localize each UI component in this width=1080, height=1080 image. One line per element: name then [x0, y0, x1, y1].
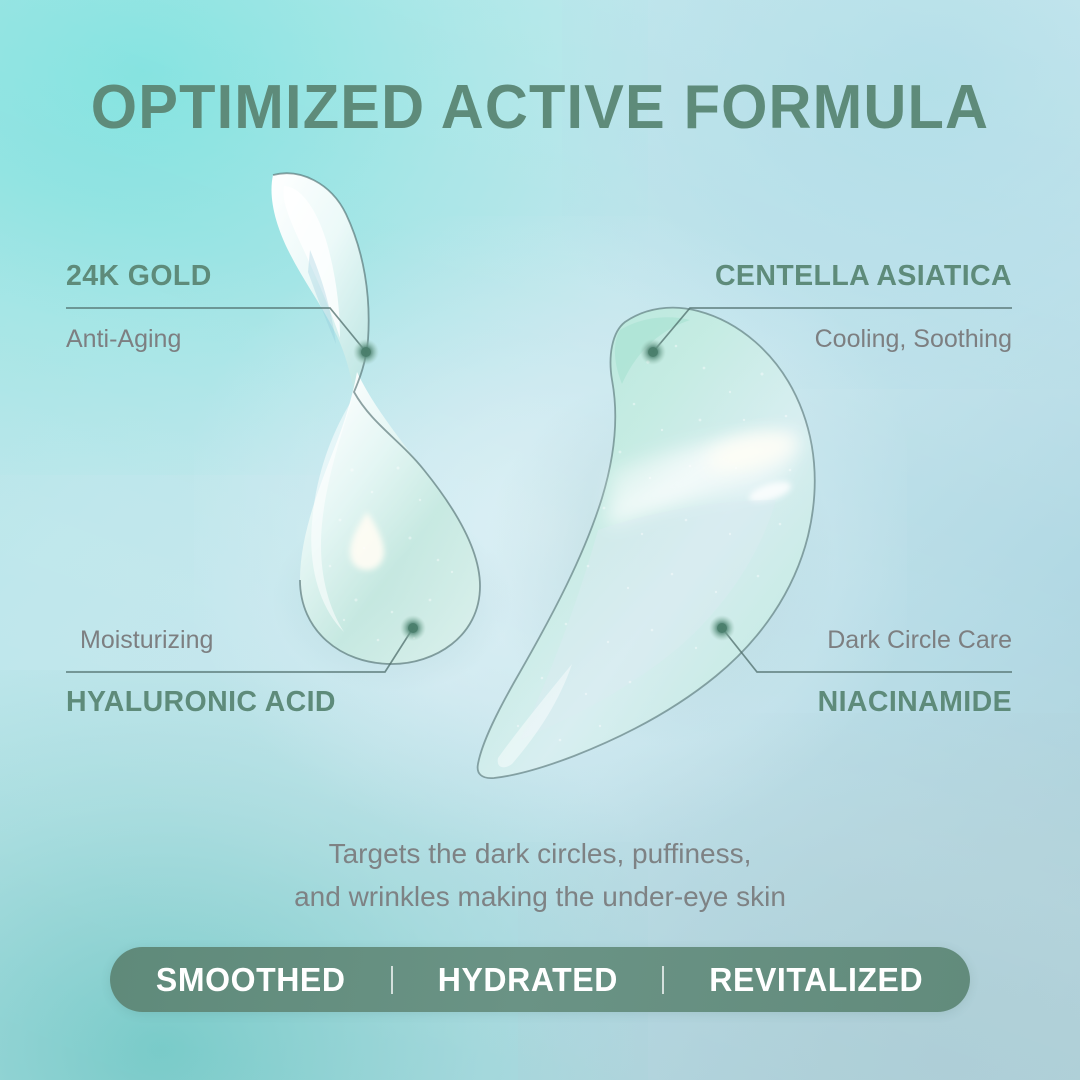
- callout-connectors: [0, 0, 1080, 1080]
- callout-bottom-left: Moisturizing HYALURONIC ACID: [80, 628, 336, 717]
- benefit-divider-2: [662, 966, 664, 994]
- benefits-banner: SMOOTHED HYDRATED REVITALIZED: [110, 947, 970, 1012]
- marker-core-top-right: [648, 347, 658, 357]
- ingredient-name-24k-gold: 24K GOLD: [66, 262, 212, 291]
- callout-bottom-right: Dark Circle Care NIACINAMIDE: [818, 628, 1012, 717]
- ingredient-name-centella-asiatica: CENTELLA ASIATICA: [715, 262, 1012, 291]
- promo-graphic: OPTIMIZED ACTIVE FORMULA: [0, 0, 1080, 1080]
- benefit-hydrated: HYDRATED: [397, 961, 659, 999]
- description-line-2: and wrinkles making the under-eye skin: [0, 875, 1080, 918]
- callout-top-right: CENTELLA ASIATICA Cooling, Soothing: [715, 262, 1012, 352]
- description-text: Targets the dark circles, puffiness, and…: [0, 832, 1080, 918]
- callout-markers: [353, 339, 735, 641]
- ingredient-benefit-niacinamide: Dark Circle Care: [818, 628, 1012, 653]
- ingredient-name-niacinamide: NIACINAMIDE: [818, 688, 1012, 717]
- marker-core-bottom-right: [717, 623, 727, 633]
- callout-top-left: 24K GOLD Anti-Aging: [66, 262, 212, 352]
- benefit-revitalized: REVITALIZED: [669, 961, 964, 999]
- ingredient-benefit-24k-gold: Anti-Aging: [66, 327, 212, 352]
- benefit-divider-1: [391, 966, 393, 994]
- ingredient-name-hyaluronic-acid: HYALURONIC ACID: [66, 688, 336, 717]
- ingredient-benefit-hyaluronic-acid: Moisturizing: [80, 628, 336, 653]
- description-line-1: Targets the dark circles, puffiness,: [0, 832, 1080, 875]
- marker-core-top-left: [361, 347, 371, 357]
- ingredient-benefit-centella-asiatica: Cooling, Soothing: [715, 327, 1012, 352]
- benefit-smoothed: SMOOTHED: [115, 961, 386, 999]
- marker-core-bottom-left: [408, 623, 418, 633]
